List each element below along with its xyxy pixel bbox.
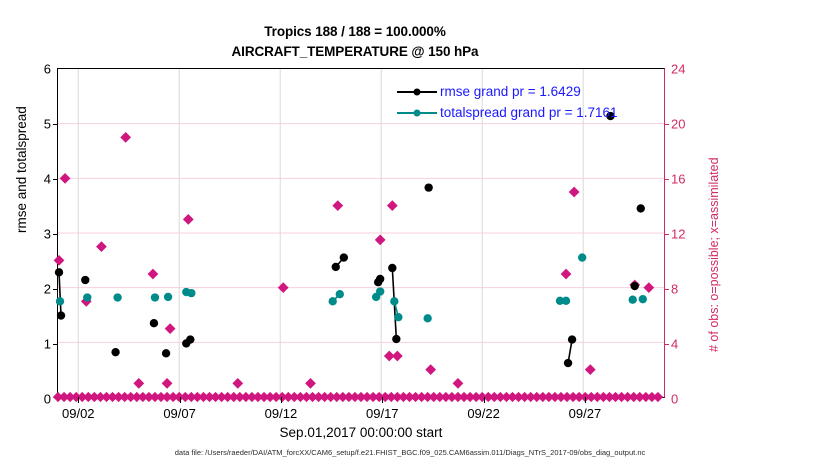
x-axis-tick-09-12: 09/12 <box>265 406 298 421</box>
left-axis-tickmark <box>53 289 58 290</box>
x-axis-tickmark <box>281 397 282 403</box>
legend-item-1[interactable]: totalspread grand pr = 1.7161 <box>397 102 618 123</box>
x-axis-tick-09-22: 09/22 <box>467 406 500 421</box>
legend: rmse grand pr = 1.6429totalspread grand … <box>393 80 622 124</box>
x-axis-tickmark <box>585 397 586 403</box>
x-axis-tick-09-27: 09/27 <box>569 406 602 421</box>
right-axis-tickmark <box>664 124 669 125</box>
left-axis-tickmark <box>53 344 58 345</box>
x-axis-tick-09-02: 09/02 <box>62 406 95 421</box>
left-axis-label: rmse and totalspread <box>14 106 29 233</box>
left-axis-tickmark <box>53 179 58 180</box>
left-axis-tickmark <box>53 234 58 235</box>
page-title: Tropics 188 / 188 = 100.000% AIRCRAFT_TE… <box>0 22 710 62</box>
right-axis-label: # of obs: o=possible; x=assimilated <box>707 157 721 352</box>
right-axis-tickmark <box>664 289 669 290</box>
right-axis-tick-24: 24 <box>664 62 685 77</box>
figure-root: Tropics 188 / 188 = 100.000% AIRCRAFT_TE… <box>0 0 830 470</box>
legend-item-0[interactable]: rmse grand pr = 1.6429 <box>397 81 618 102</box>
right-axis-tick-0: 0 <box>664 392 678 407</box>
legend-label: totalspread grand pr = 1.7161 <box>440 105 618 120</box>
left-axis-tickmark <box>53 124 58 125</box>
x-axis-label: Sep.01,2017 00:00:00 start <box>57 425 665 440</box>
x-axis-tickmark <box>382 397 383 403</box>
right-axis-tickmark <box>664 344 669 345</box>
x-axis-tick-09-17: 09/17 <box>366 406 399 421</box>
legend-marker-icon <box>397 86 437 98</box>
title-line-1: Tropics 188 / 188 = 100.000% <box>0 22 710 42</box>
x-axis-tickmark <box>180 397 181 403</box>
left-axis-tick-0: 0 <box>44 392 58 407</box>
legend-label: rmse grand pr = 1.6429 <box>440 84 581 99</box>
datafile-caption: data file: /Users/raeder/DAI/ATM_forcXX/… <box>0 448 820 457</box>
left-axis-tick-6: 6 <box>44 62 58 77</box>
right-axis-tickmark <box>664 179 669 180</box>
right-axis-tickmark <box>664 234 669 235</box>
title-line-2: AIRCRAFT_TEMPERATURE @ 150 hPa <box>0 42 710 62</box>
legend-marker-icon <box>397 107 437 119</box>
x-axis-tickmark <box>78 397 79 403</box>
x-axis-tickmark <box>484 397 485 403</box>
x-axis-tick-09-07: 09/07 <box>163 406 196 421</box>
